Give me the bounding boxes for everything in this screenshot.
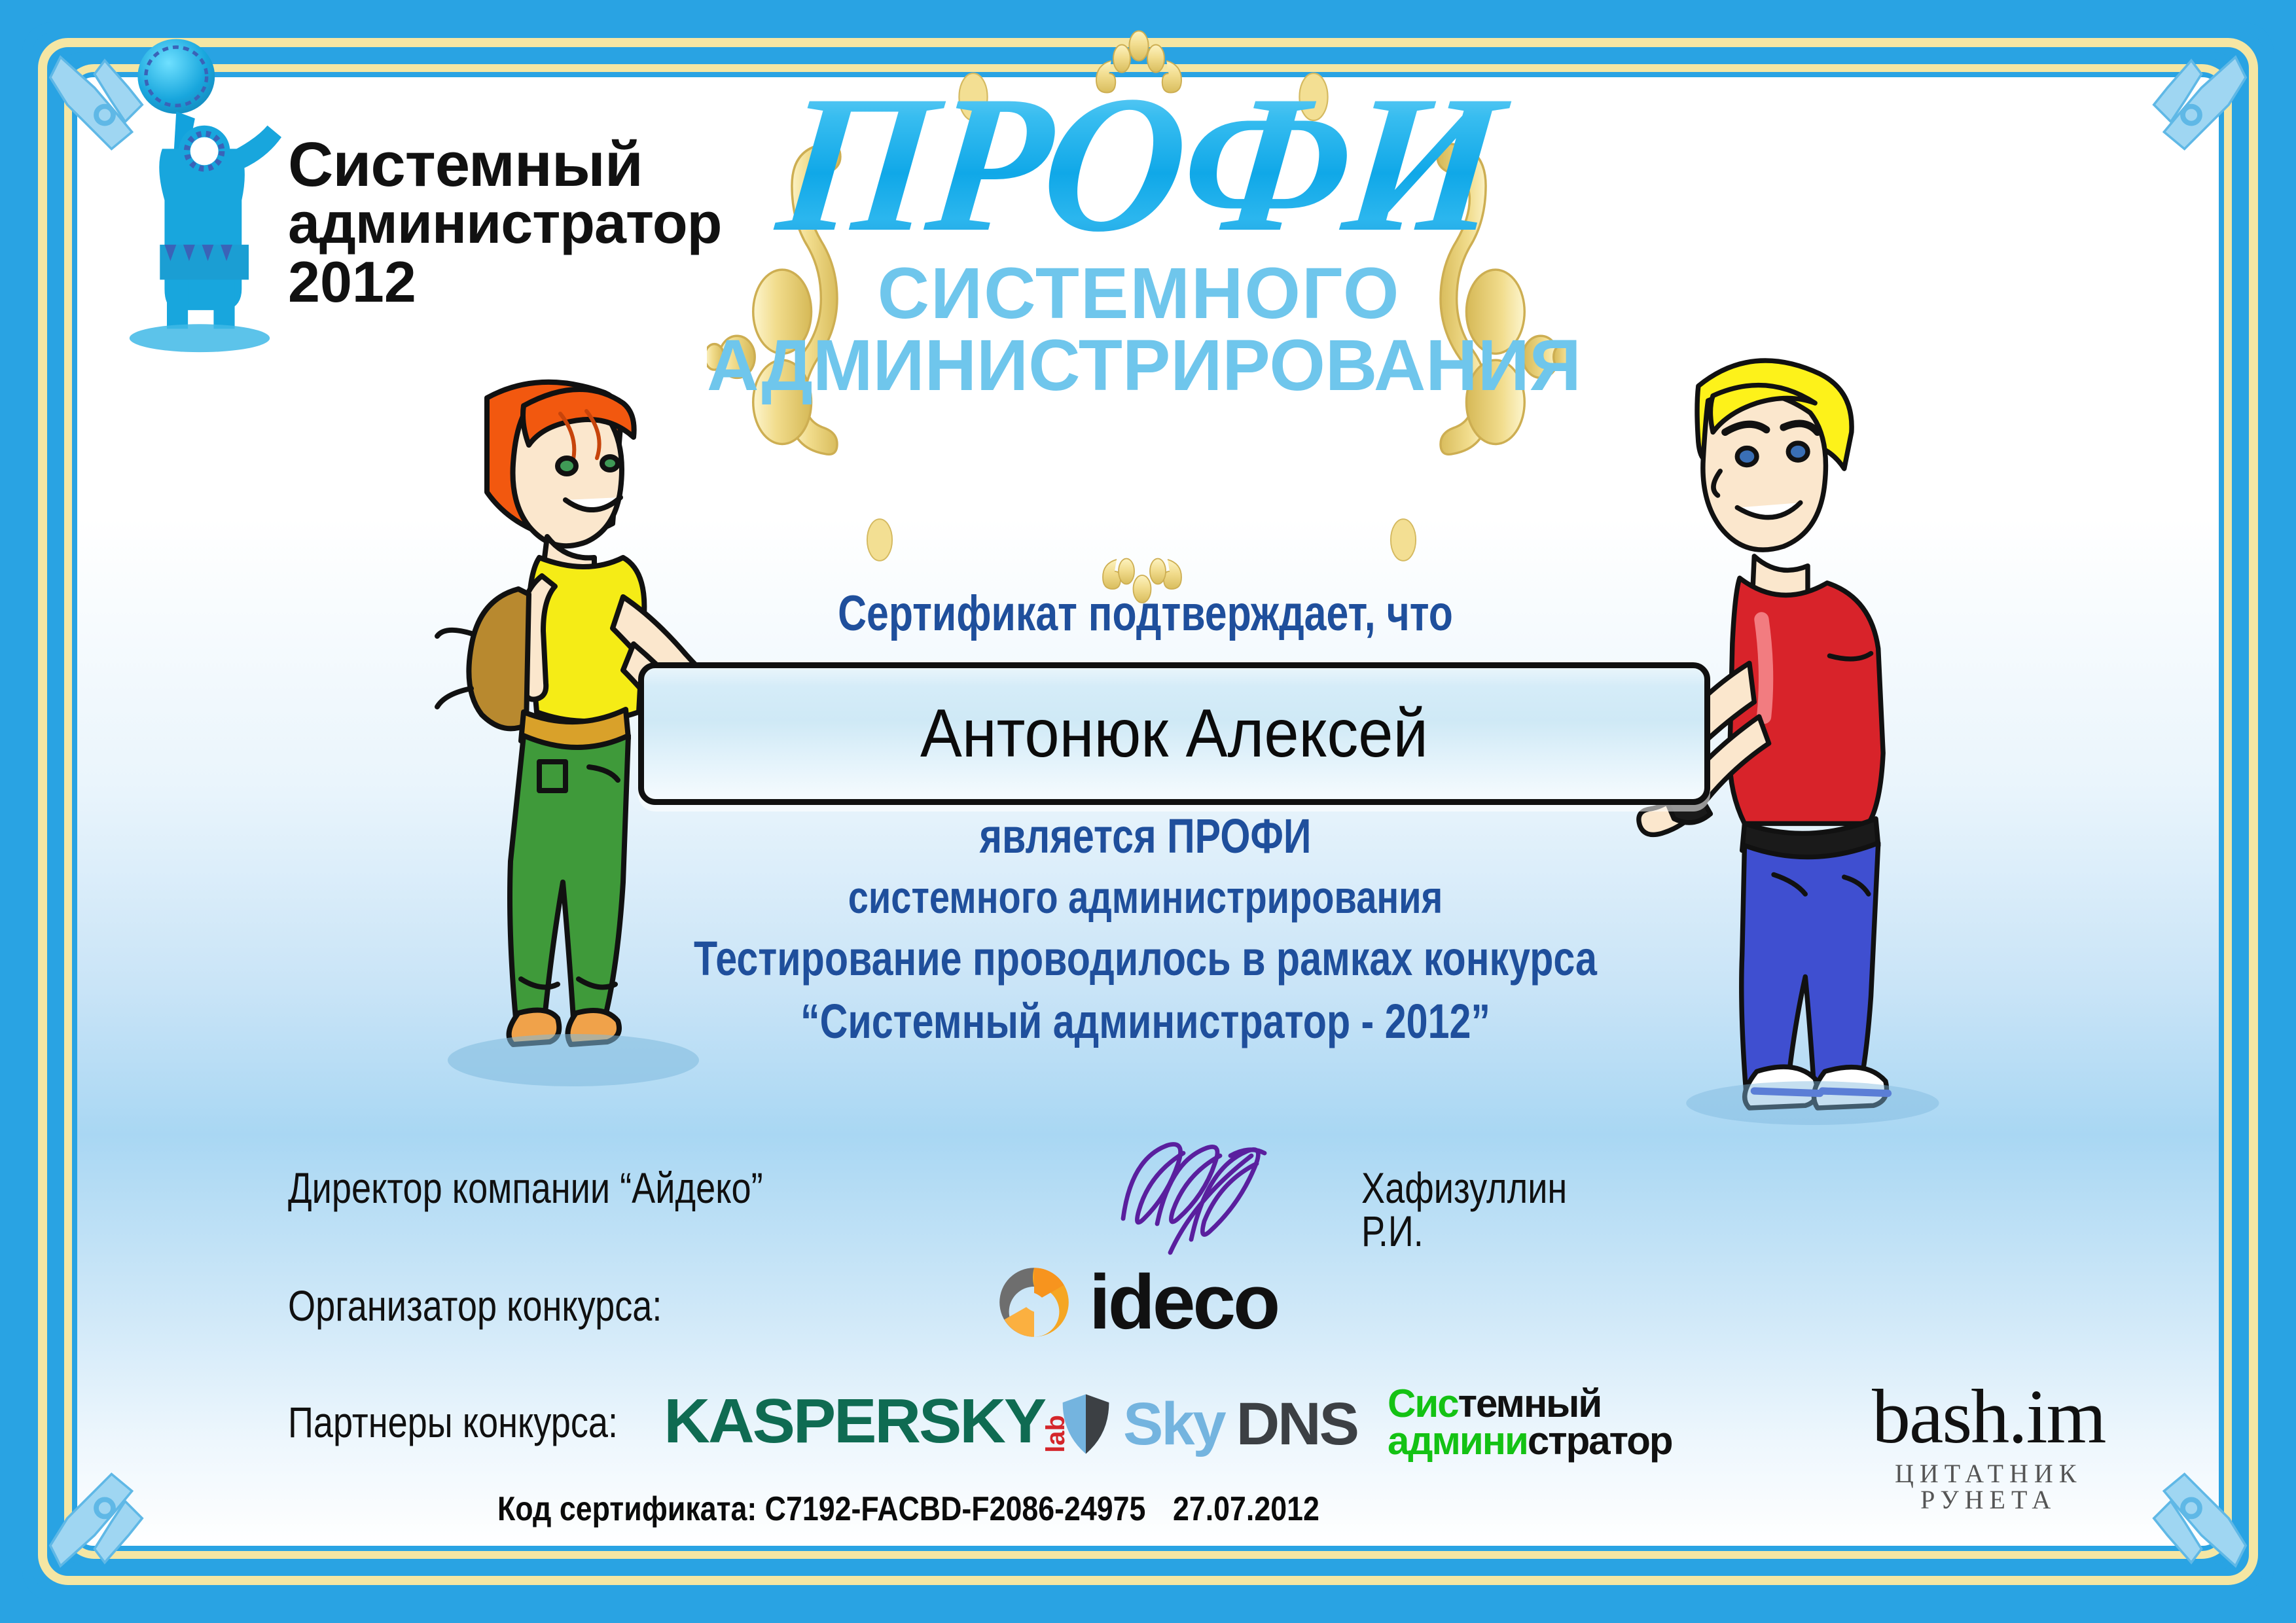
signature-person: Хафизуллин Р.И. (1361, 1166, 1567, 1253)
ideco-logo: ideco (995, 1263, 1278, 1342)
partners-row: Партнеры конкурса: KASPERSKYlab SkyDNS С… (288, 1374, 2055, 1486)
confirm-statement: Сертификат подтверждает, что (700, 589, 1590, 639)
code-value: C7192-FACBD-F2086-24975 (765, 1490, 1146, 1528)
sysadmin-l2-black: стратор (1528, 1419, 1672, 1463)
sysadmin-logo-icon: Системный администратор (1388, 1385, 1672, 1459)
handwritten-signature-icon (1100, 1127, 1309, 1258)
brand-line-2: администратор (288, 194, 733, 252)
ideco-wordmark: ideco (1089, 1264, 1278, 1341)
skydns-shield-icon (1060, 1393, 1111, 1455)
bashim-logo-icon: bash.im ЦИТАТНИК РУНЕТА (1872, 1378, 2105, 1513)
signature-row: Директор компании “Айдеко” Хафизуллин Р.… (288, 1152, 1597, 1243)
kaspersky-wordmark: KASPERSKY (664, 1390, 1045, 1453)
ideco-ring-icon (995, 1263, 1073, 1342)
sysadmin-l2-green: админи (1388, 1419, 1528, 1463)
signature-title: Директор компании “Айдеко” (288, 1166, 763, 1209)
organizer-label: Организатор конкурса: (288, 1284, 662, 1327)
body-line-4: “Системный администратор - 2012” (596, 990, 1695, 1053)
skydns-logo: SkyDNS (1060, 1393, 1357, 1455)
partners-label: Партнеры конкурса: (288, 1400, 618, 1444)
skydns-sky-text: Sky (1123, 1394, 1225, 1454)
brand-wordmark: Системный администратор 2012 (288, 135, 733, 313)
organizer-row: Организатор конкурса: ideco (288, 1263, 1597, 1361)
kaspersky-logo-icon: KASPERSKYlab (668, 1390, 1075, 1453)
bashim-tagline: ЦИТАТНИК РУНЕТА (1872, 1461, 2105, 1513)
heading-profi: ПРОФИ (696, 65, 1581, 262)
body-line-2: системного администрирования (596, 868, 1695, 927)
eskimo-mascot-icon (105, 37, 295, 364)
certificate-code-line: Код сертификата: C7192-FACBD-F2086-24975… (497, 1492, 1398, 1526)
issue-date: 27.07.2012 (1173, 1490, 1319, 1528)
certificate-canvas: Системный администратор 2012 (0, 0, 2296, 1623)
recipient-name: Антонюк Алексей (687, 668, 1662, 799)
heading-sub-line-2: АДМИНИСТРИРОВАНИЯ (707, 330, 1571, 402)
sysadmin-line-2: администратор (1388, 1422, 1672, 1459)
skydns-dns-text: DNS (1236, 1394, 1357, 1454)
brand-line-3: 2012 (288, 252, 733, 312)
sysadmin-line-1: Системный (1388, 1385, 1672, 1422)
code-label: Код сертификата: (497, 1490, 757, 1528)
body-line-3: Тестирование проводилось в рамках конкур… (596, 927, 1695, 990)
certificate-body: является ПРОФИ системного администрирова… (458, 805, 1833, 1054)
recipient-nameplate: Антонюк Алексей (638, 662, 1710, 805)
brand-line-1: Системный (288, 135, 733, 194)
body-line-1: является ПРОФИ (596, 805, 1695, 868)
brand-logo-block: Системный администратор 2012 (92, 30, 746, 397)
bashim-wordmark: bash.im (1872, 1378, 2105, 1455)
heading-block: ПРОФИ СИСТЕМНОГО АДМИНИСТРИРОВАНИЯ (707, 65, 1571, 563)
